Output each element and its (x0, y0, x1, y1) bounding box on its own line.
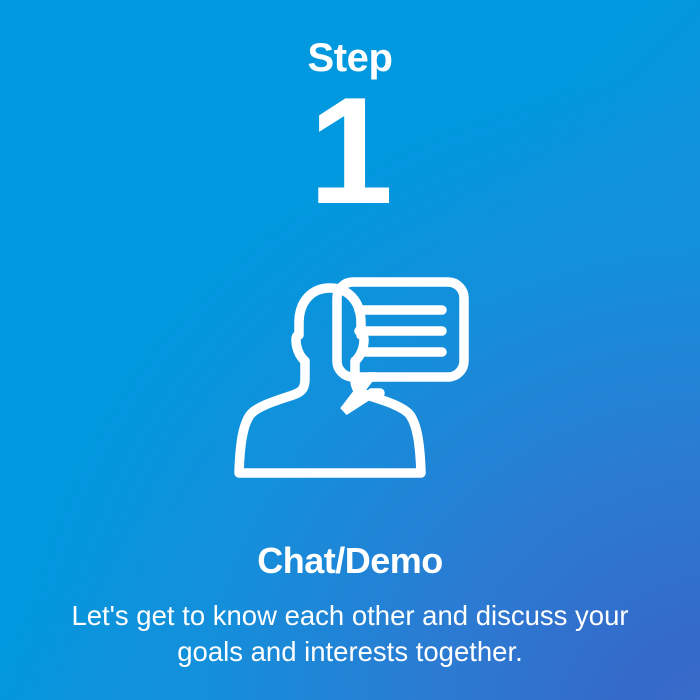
step-card: Step 1 Chat/Demo Let's get to know each … (0, 0, 700, 700)
step-header: Step 1 (0, 0, 700, 217)
step-footer: Chat/Demo Let's get to know each other a… (30, 541, 670, 669)
step-title: Chat/Demo (30, 541, 670, 581)
step-description: Let's get to know each other and discuss… (50, 598, 650, 668)
step-number-label: 1 (0, 86, 700, 217)
person-with-speech-bubble-glyph (220, 261, 480, 491)
person-with-speech-bubble-icon (220, 261, 480, 491)
